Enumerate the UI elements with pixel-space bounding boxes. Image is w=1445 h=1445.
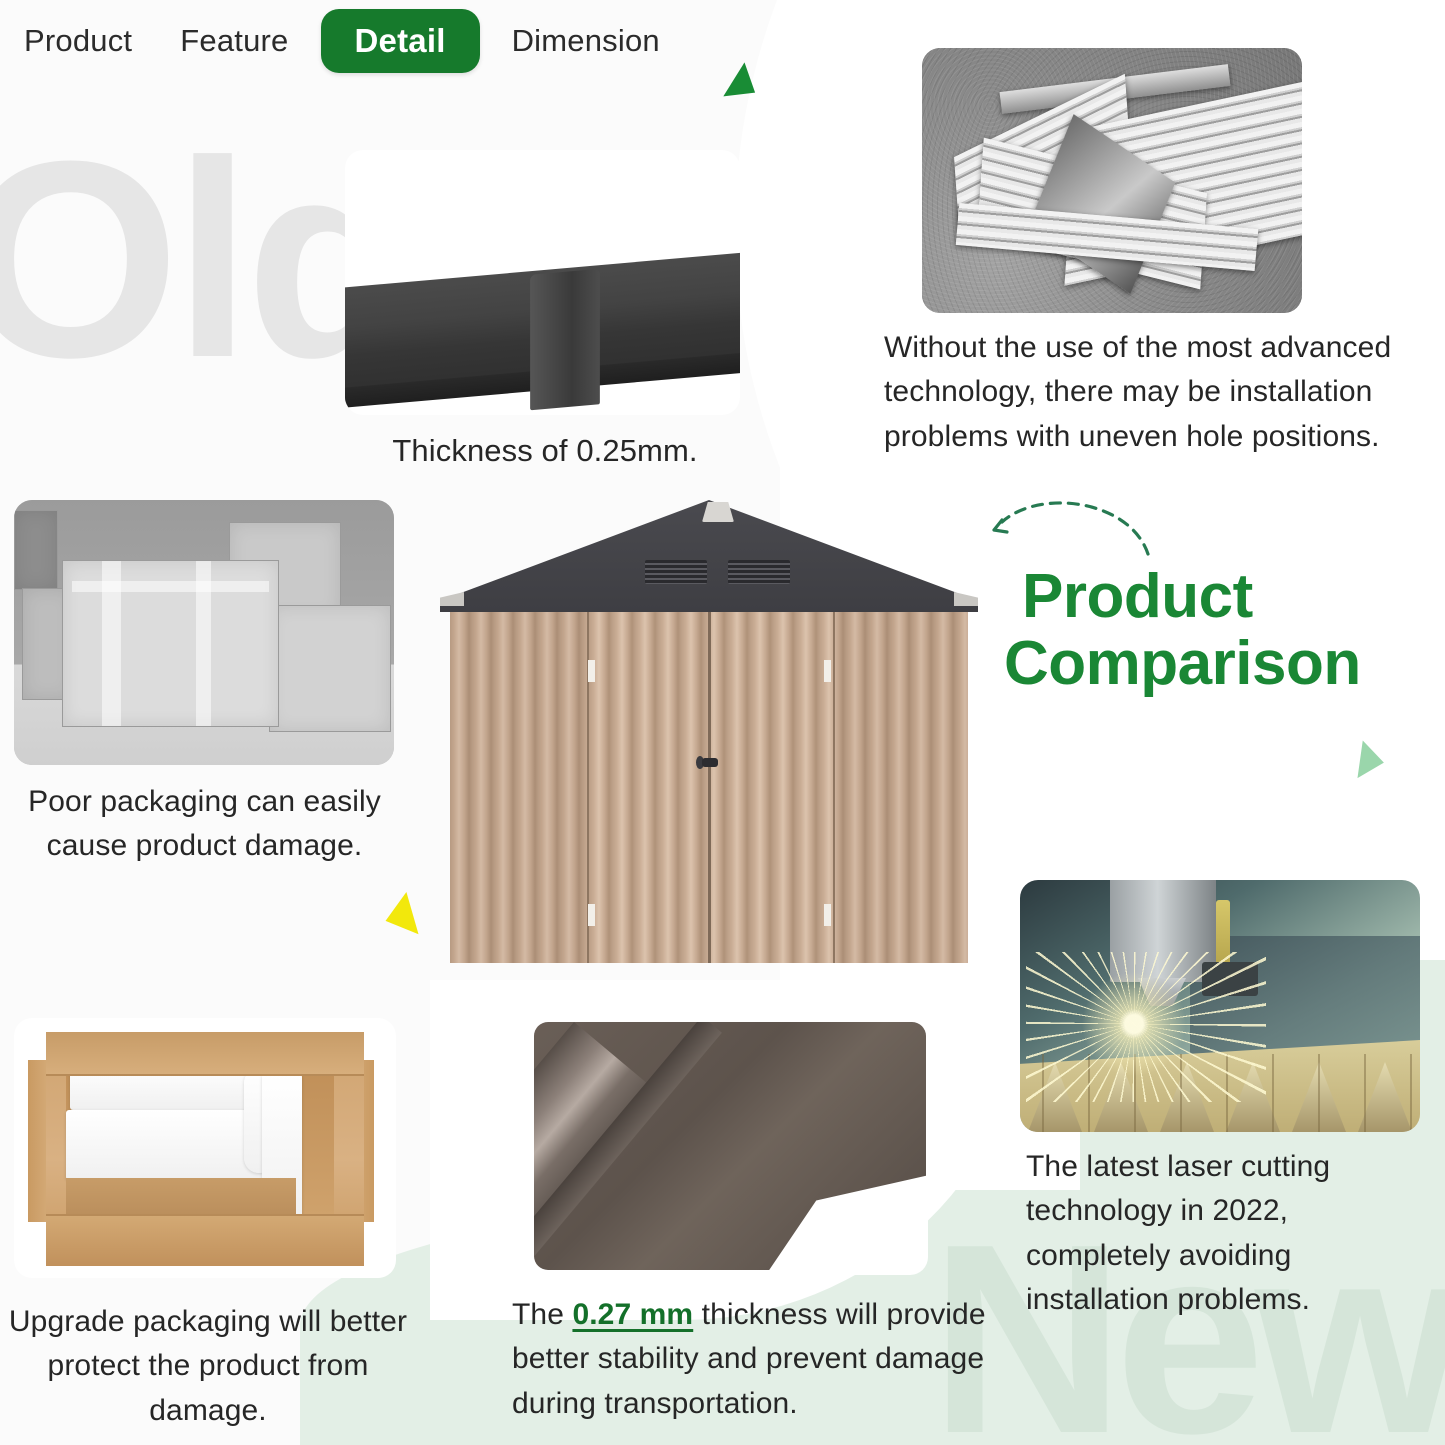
- caption-poor-packaging: Poor packaging can easily cause product …: [12, 780, 397, 869]
- shed-eave: [954, 592, 978, 606]
- carton-flap: [46, 1032, 364, 1076]
- laser-cutting-image: [1020, 880, 1420, 1132]
- triangle-arrow-icon: [379, 892, 418, 942]
- door-handle: [702, 758, 718, 767]
- foam-insert: [66, 1110, 266, 1180]
- door-hinge: [588, 660, 595, 682]
- poor-packaging-image: [14, 500, 394, 765]
- tab-detail[interactable]: Detail: [321, 9, 480, 73]
- shed-product-image: [440, 500, 978, 963]
- infographic-page: Old New Product Feature Detail Dimension…: [0, 0, 1445, 1445]
- shed-door-split: [708, 604, 711, 963]
- shed-eave: [440, 592, 464, 606]
- tab-product[interactable]: Product: [0, 23, 156, 59]
- shed-doors: [587, 604, 835, 963]
- door-hinge: [824, 904, 831, 926]
- carton-flap: [46, 1214, 364, 1266]
- old-panel-graphic: [345, 150, 740, 415]
- shed-vent: [728, 560, 790, 584]
- door-hinge: [824, 660, 831, 682]
- caption-new-thickness: The 0.27 mm thickness will provide bette…: [512, 1293, 1007, 1426]
- panel-sheet: [534, 1022, 926, 1270]
- caption-upgrade-packaging: Upgrade packaging will better protect th…: [8, 1300, 408, 1433]
- old-thickness-image: [345, 150, 740, 415]
- packing-tape: [102, 561, 121, 726]
- caption-laser-cutting: The latest laser cutting technology in 2…: [1026, 1145, 1436, 1323]
- tab-feature[interactable]: Feature: [156, 23, 312, 59]
- door-hinge: [588, 904, 595, 926]
- caption-new-thickness-prefix: The: [512, 1298, 572, 1331]
- new-thickness-image: [528, 1010, 928, 1275]
- page-title-line2: Comparison: [1004, 631, 1442, 698]
- page-title-line1: Product: [1022, 564, 1442, 631]
- tab-dimension[interactable]: Dimension: [488, 23, 684, 59]
- shed-vent: [645, 560, 707, 584]
- spark-burst: [1026, 952, 1266, 1102]
- caption-old-thickness: Thickness of 0.25mm.: [345, 428, 745, 474]
- thickness-value-highlight: 0.27 mm: [572, 1298, 693, 1331]
- packing-tape: [196, 561, 211, 726]
- cardboard-box: [269, 605, 391, 732]
- cardboard-box: [14, 510, 58, 590]
- old-panel-rib: [530, 269, 600, 411]
- page-title: Product Comparison: [1022, 564, 1442, 698]
- caption-uneven-holes: Without the use of the most advanced tec…: [884, 326, 1404, 459]
- broken-roof-image: [922, 48, 1302, 313]
- curved-dashed-arrow-icon: [980, 482, 1175, 567]
- cardboard-box: [62, 560, 279, 727]
- tab-bar: Product Feature Detail Dimension: [0, 0, 760, 82]
- upgrade-packaging-image: [14, 1018, 396, 1278]
